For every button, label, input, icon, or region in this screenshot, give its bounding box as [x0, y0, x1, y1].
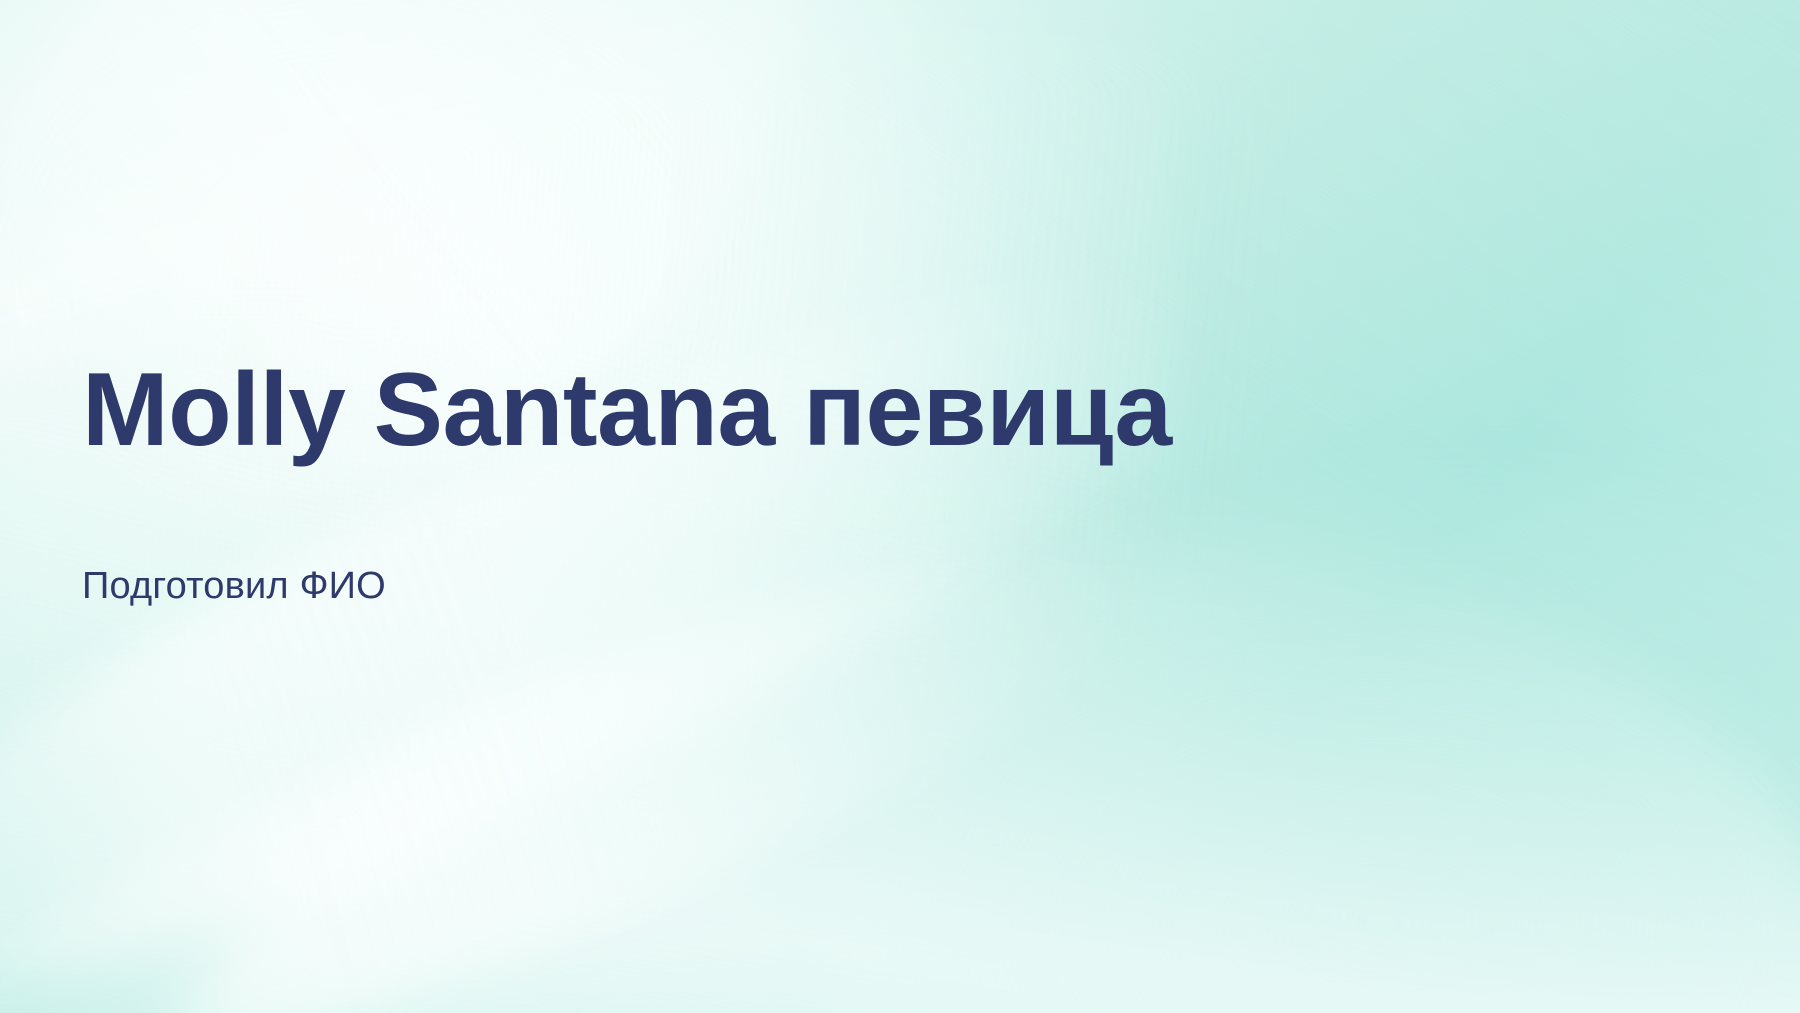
slide-subtitle: Подготовил ФИО [82, 564, 1642, 610]
title-slide: Molly Santana певица Подготовил ФИО [0, 0, 1800, 1013]
page-title: Molly Santana певица [82, 352, 1642, 468]
title-block: Molly Santana певица Подготовил ФИО [82, 352, 1642, 610]
